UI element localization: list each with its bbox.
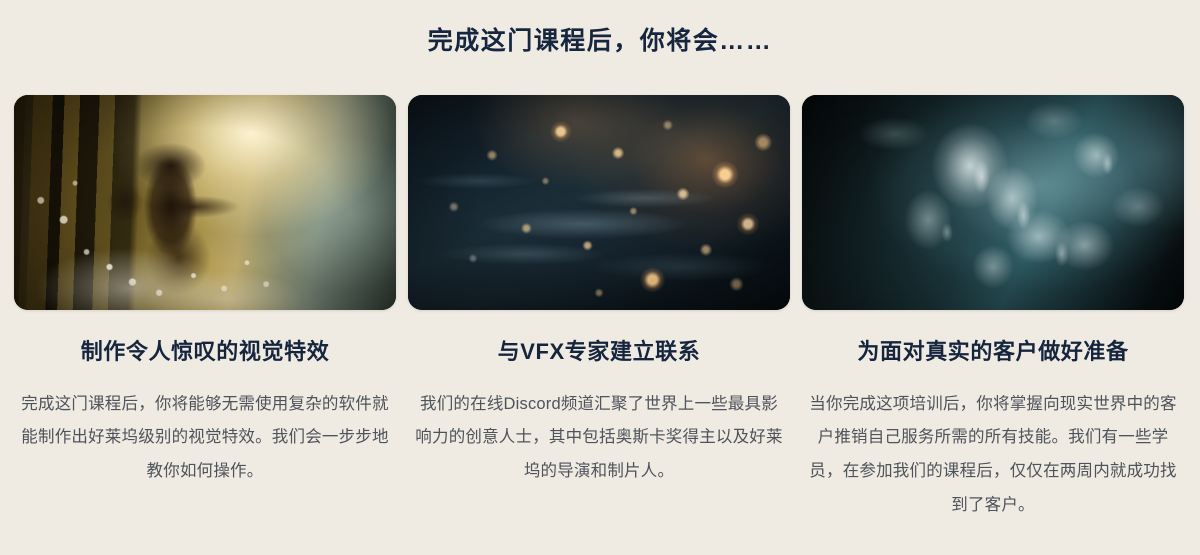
vignette-layer xyxy=(408,95,790,310)
benefit-card-3-body: 当你完成这项培训后，你将掌握向现实世界中的客户推销自己服务所需的所有技能。我们有… xyxy=(806,388,1180,523)
benefits-section: 完成这门课程后，你将会…… 制作令人惊叹的视觉特效 完成这门课程后，你将能够无需… xyxy=(0,0,1200,555)
benefit-card-3-title: 为面对真实的客户做好准备 xyxy=(857,338,1128,366)
benefit-card-2-title: 与VFX专家建立联系 xyxy=(498,338,701,366)
benefit-card-grid: 制作令人惊叹的视觉特效 完成这门课程后，你将能够无需使用复杂的软件就能制作出好莱… xyxy=(14,95,1186,523)
vignette-layer xyxy=(14,95,396,310)
section-heading: 完成这门课程后，你将会…… xyxy=(0,26,1200,56)
benefit-card-3: 为面对真实的客户做好准备 当你完成这项培训后，你将掌握向现实世界中的客户推销自己… xyxy=(802,95,1184,523)
benefit-card-1-body: 完成这门课程后，你将能够无需使用复杂的软件就能制作出好莱坞级别的视觉特效。我们会… xyxy=(18,388,392,489)
benefit-card-2-body: 我们的在线Discord频道汇聚了世界上一些最具影响力的创意人士，其中包括奥斯卡… xyxy=(412,388,786,489)
benefit-card-2: 与VFX专家建立联系 我们的在线Discord频道汇聚了世界上一些最具影响力的创… xyxy=(408,95,790,523)
benefit-card-2-image xyxy=(408,95,790,310)
vignette-layer xyxy=(802,95,1184,310)
benefit-card-1-title: 制作令人惊叹的视觉特效 xyxy=(81,338,330,366)
benefit-card-1-image xyxy=(14,95,396,310)
benefit-card-1: 制作令人惊叹的视觉特效 完成这门课程后，你将能够无需使用复杂的软件就能制作出好莱… xyxy=(14,95,396,523)
benefit-card-3-image xyxy=(802,95,1184,310)
